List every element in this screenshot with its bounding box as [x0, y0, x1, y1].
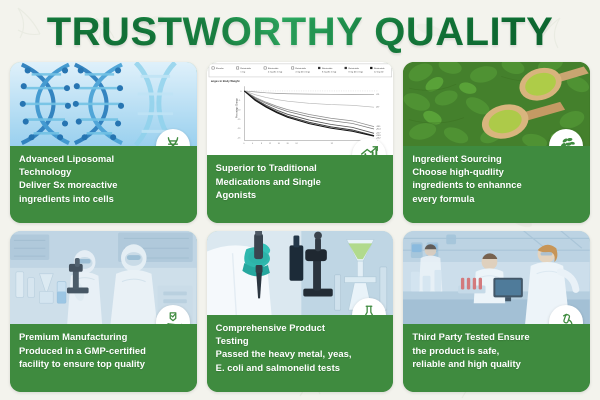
- svg-text:Retatrutide: Retatrutide: [348, 67, 359, 70]
- card-body-comprehensive-product-testing: Comprehensive Product Testing Passed the…: [207, 315, 394, 392]
- card-text: Premium Manufacturing Produced in a GMP-…: [19, 330, 146, 370]
- card-media-manufacturing: [10, 231, 197, 324]
- card-body-advanced-liposomal-technology: Advanced Liposomal Technology Deliver Sx…: [10, 146, 197, 223]
- card-media-chart: Placebo Retatrutide1 mg Retatrutide4 mg …: [207, 62, 394, 155]
- card-body-third-party-tested: Third Party Tested Ensure the product is…: [403, 324, 590, 392]
- svg-text:4: 4: [252, 143, 253, 145]
- svg-text:-25: -25: [237, 138, 240, 140]
- feature-card-premium-manufacturing[interactable]: Premium Manufacturing Produced in a GMP-…: [10, 231, 197, 392]
- feature-card-third-party-tested[interactable]: Third Party Tested Ensure the product is…: [403, 231, 590, 392]
- card-media-testing: [207, 231, 394, 315]
- svg-text:Retatrutide: Retatrutide: [295, 67, 306, 70]
- svg-text:12: 12: [269, 143, 271, 145]
- svg-text:-15: -15: [237, 119, 240, 121]
- svg-text:Retatrutide: Retatrutide: [322, 67, 333, 70]
- svg-text:32: 32: [330, 143, 332, 145]
- svg-text:-8.7: -8.7: [376, 107, 379, 109]
- svg-text:0: 0: [243, 143, 244, 145]
- svg-text:4 mg (ID 4 mg): 4 mg (ID 4 mg): [295, 71, 310, 73]
- svg-text:20: 20: [286, 143, 288, 145]
- svg-text:4 mg (ID 2 mg): 4 mg (ID 2 mg): [268, 71, 283, 73]
- card-text: Advanced Liposomal Technology Deliver Sx…: [19, 152, 118, 205]
- card-media-third-party-lab: [403, 231, 590, 324]
- feature-card-grid: Advanced Liposomal Technology Deliver Sx…: [10, 62, 590, 392]
- svg-text:8 mg (ID 4 mg): 8 mg (ID 4 mg): [348, 71, 363, 73]
- feature-card-comprehensive-product-testing[interactable]: Comprehensive Product Testing Passed the…: [207, 231, 394, 392]
- svg-text:anges in Body Weight: anges in Body Weight: [211, 79, 240, 83]
- card-media-ingredients: [403, 62, 590, 146]
- card-body-premium-manufacturing: Premium Manufacturing Produced in a GMP-…: [10, 324, 197, 392]
- card-media-dna: [10, 62, 197, 146]
- card-text: Superior to Traditional Medications and …: [216, 161, 321, 201]
- page-title: TRUSTWORTHY QUALITY: [47, 10, 554, 55]
- svg-text:24: 24: [295, 143, 297, 145]
- svg-text:Placebo: Placebo: [215, 68, 224, 70]
- svg-text:Retatrutide: Retatrutide: [240, 67, 251, 70]
- svg-text:-10: -10: [237, 110, 240, 112]
- card-body-superior-to-traditional-medications: Superior to Traditional Medications and …: [207, 155, 394, 223]
- svg-text:16: 16: [277, 143, 279, 145]
- svg-text:-20.4: -20.4: [376, 129, 380, 131]
- svg-text:12 mg (ID: 12 mg (ID: [374, 71, 384, 73]
- svg-text:8: 8: [261, 143, 262, 145]
- svg-text:-2.1: -2.1: [376, 94, 379, 96]
- svg-text:Retatrutide: Retatrutide: [268, 67, 279, 70]
- svg-text:Retatrutide: Retatrutide: [374, 67, 385, 70]
- card-body-ingredient-sourcing: Ingredient Sourcing Choose high-qudlity …: [403, 146, 590, 223]
- card-text: Third Party Tested Ensure the product is…: [412, 330, 529, 370]
- page-title-container: TRUSTWORTHY QUALITY: [0, 8, 600, 56]
- svg-text:-5: -5: [238, 100, 240, 102]
- card-text: Ingredient Sourcing Choose high-qudlity …: [412, 152, 522, 205]
- feature-card-advanced-liposomal-technology[interactable]: Advanced Liposomal Technology Deliver Sx…: [10, 62, 197, 223]
- svg-text:0: 0: [240, 91, 241, 93]
- svg-text:-19.1: -19.1: [376, 126, 380, 128]
- feature-card-ingredient-sourcing[interactable]: Ingredient Sourcing Choose high-qudlity …: [403, 62, 590, 223]
- card-text: Comprehensive Product Testing Passed the…: [216, 321, 352, 374]
- svg-text:-20: -20: [237, 128, 240, 130]
- svg-text:8 mg (ID 2 mg): 8 mg (ID 2 mg): [322, 71, 337, 73]
- feature-card-superior-to-traditional-medications[interactable]: Placebo Retatrutide1 mg Retatrutide4 mg …: [207, 62, 394, 223]
